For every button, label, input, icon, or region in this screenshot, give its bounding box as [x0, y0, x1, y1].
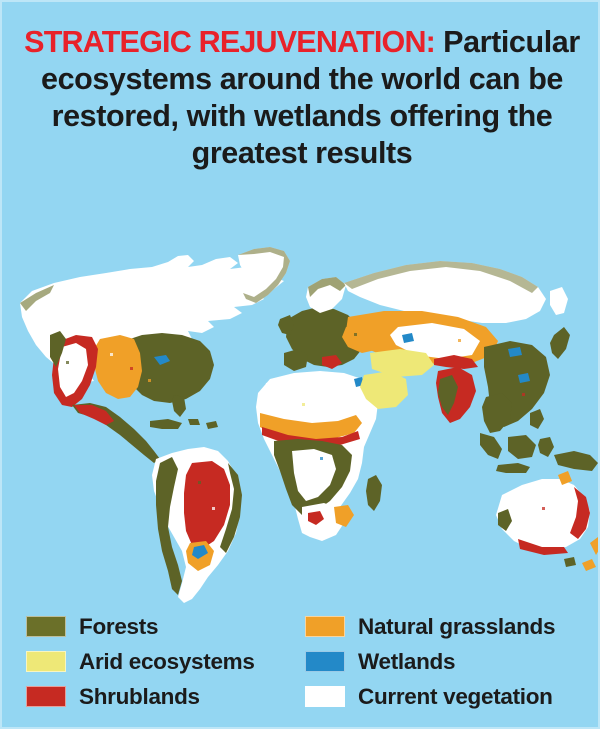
color-swatch-icon	[305, 686, 345, 707]
page-title: STRATEGIC REJUVENATION: Particular ecosy…	[2, 24, 600, 172]
color-swatch-icon	[26, 616, 66, 637]
legend: Forests Arid ecosystems Shrublands Natur…	[2, 609, 600, 721]
legend-column-right: Natural grasslands Wetlands Current vege…	[298, 609, 600, 721]
color-swatch-icon	[26, 651, 66, 672]
legend-column-left: Forests Arid ecosystems Shrublands	[2, 609, 298, 721]
legend-label: Current vegetation	[358, 685, 553, 708]
legend-label: Forests	[79, 615, 158, 638]
color-swatch-icon	[26, 686, 66, 707]
legend-label: Wetlands	[358, 650, 455, 673]
legend-label: Shrublands	[79, 685, 200, 708]
legend-label: Natural grasslands	[358, 615, 555, 638]
legend-item-forests[interactable]: Forests	[26, 609, 298, 644]
legend-item-natural-grasslands[interactable]: Natural grasslands	[305, 609, 600, 644]
color-swatch-icon	[305, 616, 345, 637]
legend-item-wetlands[interactable]: Wetlands	[305, 644, 600, 679]
world-map	[2, 207, 600, 607]
legend-item-arid-ecosystems[interactable]: Arid ecosystems	[26, 644, 298, 679]
legend-item-shrublands[interactable]: Shrublands	[26, 679, 298, 714]
legend-label: Arid ecosystems	[79, 650, 255, 673]
legend-item-current-vegetation[interactable]: Current vegetation	[305, 679, 600, 714]
world-map-graphic	[2, 207, 600, 607]
headline-kicker: STRATEGIC REJUVENATION:	[24, 25, 435, 59]
infographic-panel: STRATEGIC REJUVENATION: Particular ecosy…	[0, 0, 600, 729]
color-swatch-icon	[305, 651, 345, 672]
